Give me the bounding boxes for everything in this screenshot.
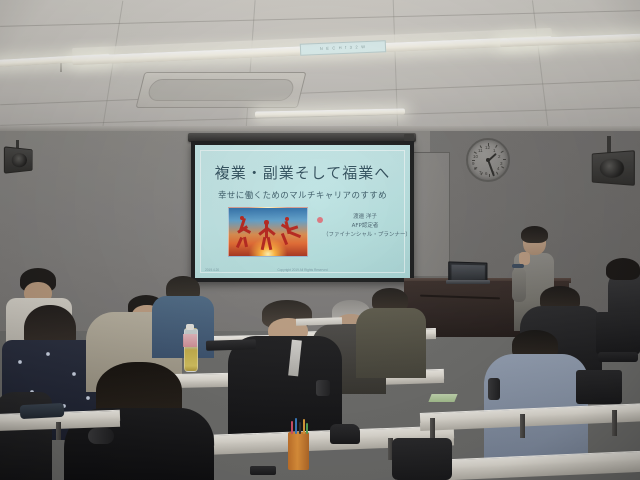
clock-center-pin bbox=[486, 158, 490, 162]
black-pouch bbox=[88, 428, 114, 444]
presenter-arm bbox=[512, 268, 526, 302]
slide-title: 複業・副業そして福業へ bbox=[195, 162, 410, 183]
clock-numeral-2: 2 bbox=[498, 155, 501, 160]
smartphone bbox=[250, 466, 276, 475]
clock-numeral-10: 10 bbox=[473, 155, 478, 160]
green-handout bbox=[428, 394, 457, 402]
desk-leg bbox=[612, 410, 617, 436]
glasses-case bbox=[20, 403, 65, 419]
tumbler-cup bbox=[488, 378, 500, 400]
empty-chair-seat bbox=[598, 352, 638, 362]
clock-numeral-6: 6 bbox=[485, 172, 488, 177]
desk-leg bbox=[520, 414, 525, 438]
presentation-slide: 複業・副業そして福業へ 幸せに働くためのマルチキャリアのすすめ bbox=[195, 145, 410, 278]
clock-numeral-8: 8 bbox=[474, 167, 477, 172]
slide-presenter-cred-2: （ファイナンシャル・プランナー） bbox=[323, 231, 407, 240]
clock-numeral-7: 7 bbox=[479, 171, 482, 176]
wall-speaker-left-icon bbox=[4, 146, 33, 173]
slide-presenter-name: 渡邉 洋子 bbox=[323, 213, 407, 222]
ceiling-light-label-text: N E C H f 3 2 W bbox=[301, 41, 385, 55]
slide-footer-center: Copyright 2019 All Rights Reserved bbox=[195, 268, 410, 272]
laptop-attendee bbox=[206, 339, 256, 351]
desk-leg bbox=[430, 418, 435, 440]
clock-numeral-3: 3 bbox=[500, 162, 503, 167]
black-bag bbox=[330, 424, 360, 444]
water-bottle-label bbox=[183, 334, 197, 347]
slide-presenter-cred-1: AFP認定者 bbox=[323, 222, 407, 231]
pen-holder bbox=[288, 432, 309, 470]
empty-chair-back bbox=[596, 312, 640, 354]
projection-screen: 複業・副業そして福業へ 幸せに働くためのマルチキャリアのすすめ bbox=[191, 141, 414, 282]
slide-photo-sunset-jumpers bbox=[228, 207, 308, 257]
wall-clock: 12 1 2 3 4 5 6 7 8 9 10 11 bbox=[466, 138, 510, 182]
seminar-room-photo: N E C H f 3 2 W 12 1 2 3 4 5 6 7 8 9 10 … bbox=[0, 0, 640, 480]
desk-leg bbox=[56, 422, 61, 440]
water-bottle-cap bbox=[186, 324, 194, 330]
slide-subtitle: 幸せに働くためのマルチキャリアのすすめ bbox=[195, 189, 410, 201]
slide-presenter-block: 渡邉 洋子 AFP認定者 （ファイナンシャル・プランナー） bbox=[323, 213, 407, 240]
chair-right-mid bbox=[576, 370, 622, 404]
ceiling-air-vent bbox=[136, 72, 307, 108]
clock-numeral-12: 12 bbox=[485, 146, 490, 151]
chair-front-center bbox=[392, 438, 452, 480]
wall-speaker-right-icon bbox=[592, 150, 635, 186]
laptop-base bbox=[446, 280, 490, 284]
clock-numeral-9: 9 bbox=[472, 162, 475, 167]
tumbler-cup bbox=[316, 380, 330, 396]
presenter-hair bbox=[521, 226, 548, 243]
clock-numeral-11: 11 bbox=[478, 149, 483, 154]
ceiling-fitting bbox=[60, 62, 62, 72]
clock-numeral-4: 4 bbox=[497, 167, 500, 172]
presenter-wristwatch bbox=[512, 264, 524, 268]
projection-screen-roller-cap bbox=[404, 134, 414, 141]
